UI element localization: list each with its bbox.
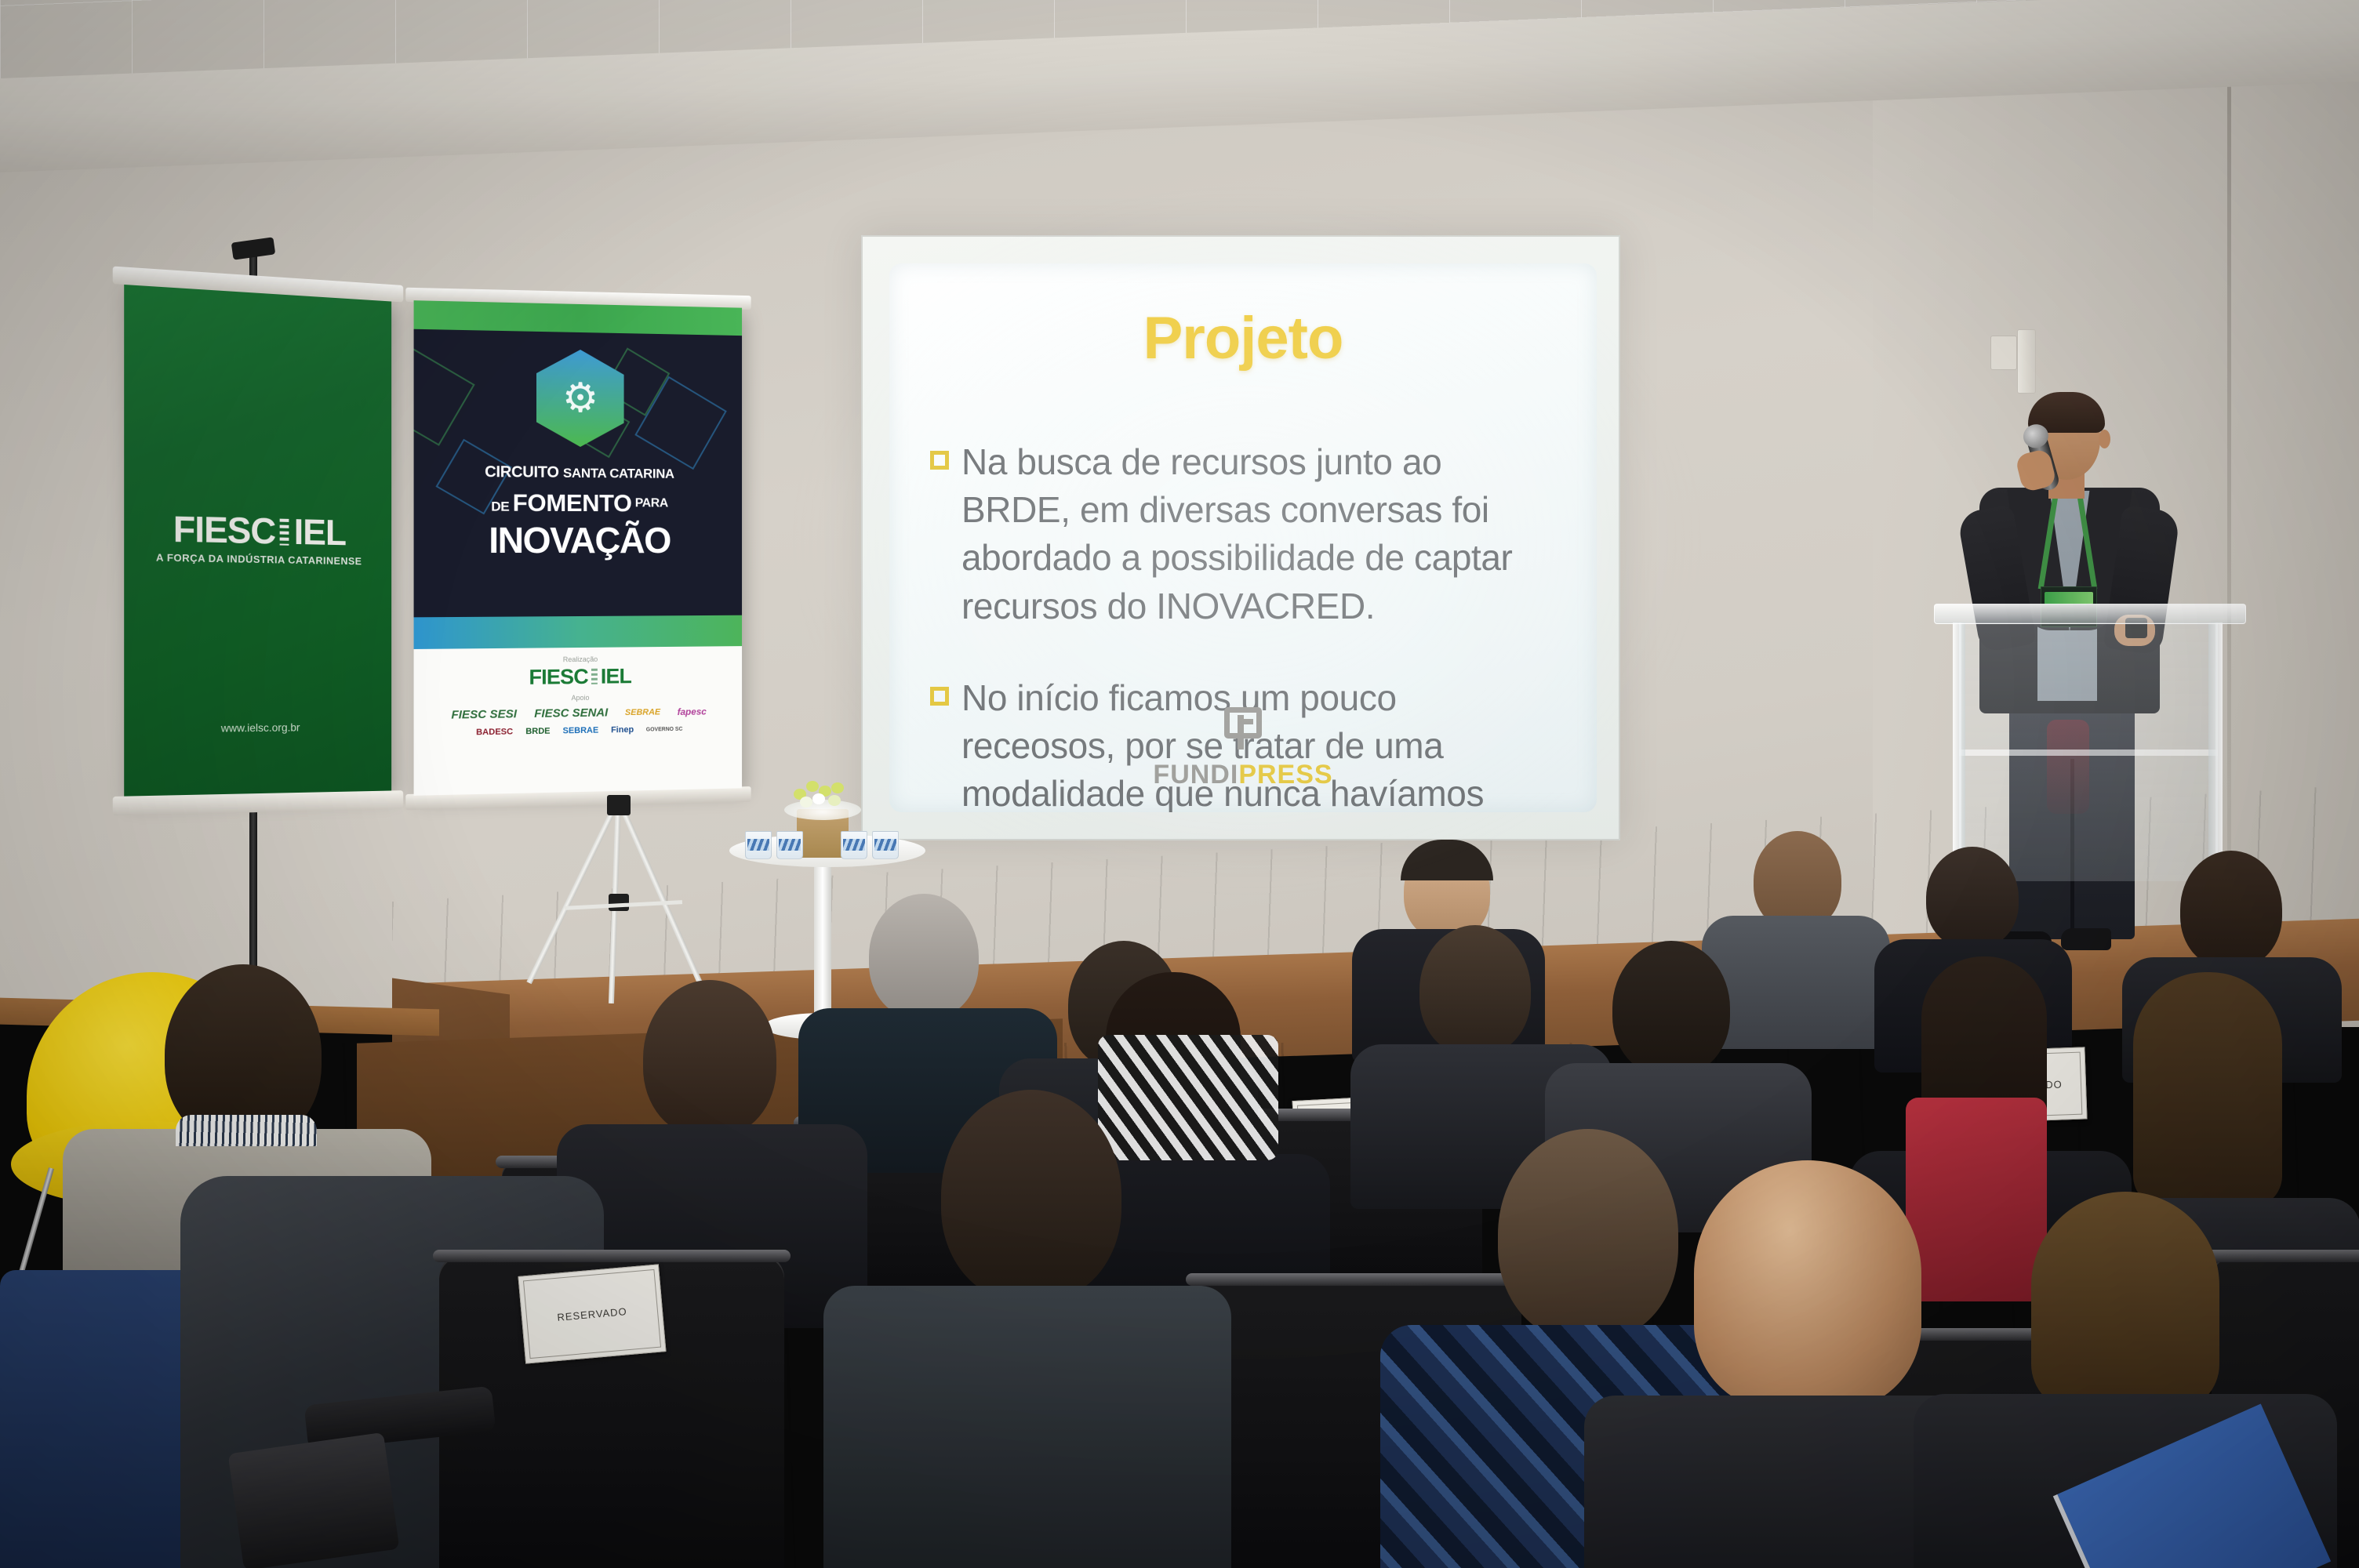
water-cup — [745, 831, 772, 859]
person-hair — [2031, 1192, 2219, 1411]
organizer-logo: FIESCIEL — [414, 663, 742, 691]
person-hair — [1612, 941, 1730, 1076]
presenter-lanyard — [2045, 495, 2091, 590]
person-hair-long — [2133, 972, 2282, 1207]
person-collar — [176, 1115, 317, 1146]
bullet-square-icon — [930, 451, 949, 470]
event-title-inovacao: INOVAÇÃO — [414, 518, 742, 561]
person-hair — [1401, 840, 1493, 880]
logo-word-press: PRESS — [1238, 760, 1332, 789]
fundipress-wordmark: FUNDIPRESS — [889, 760, 1597, 790]
logo-word-fundi: FUNDI — [1153, 760, 1238, 789]
event-title-de: DE — [491, 499, 509, 514]
apoio-label: Apoio — [414, 691, 742, 704]
event-banner-sponsor-panel: Realização FIESCIEL Apoio FIESC SESI FIE… — [414, 646, 742, 796]
person-body — [823, 1286, 1231, 1568]
logo-divider-icon — [280, 519, 289, 546]
lectern-shelf — [1959, 750, 2218, 756]
sponsor-finep: Finep — [611, 725, 634, 735]
event-banner-body: ⚙ CIRCUITO SANTA CATARINA DE FOMENTO PAR… — [414, 329, 742, 618]
sponsor-fiesc-senai: FIESC SENAI — [534, 706, 608, 720]
presenter-ear-right — [2099, 430, 2110, 448]
presentation-slide: Projeto Na busca de recursos junto ao BR… — [889, 263, 1597, 812]
sponsor-badesc: BADESC — [476, 727, 513, 737]
person-hair — [2180, 851, 2282, 968]
sponsor-fiesc-sesi: FIESC SESI — [451, 707, 517, 721]
person-hair — [1419, 925, 1531, 1055]
chair-arm-support — [228, 1432, 400, 1568]
sponsor-brde: BRDE — [525, 727, 550, 737]
sponsor-sebrae: SEBRAE — [563, 726, 599, 736]
slide-bullet-list: Na busca de recursos junto ao BRDE, em d… — [930, 438, 1553, 812]
lectern-top — [1934, 604, 2246, 624]
slide-title: Projeto — [889, 304, 1597, 372]
person-hair — [941, 1090, 1121, 1301]
slide-bullet-text: Na busca de recursos junto ao BRDE, em d… — [961, 438, 1553, 630]
event-title-fomento: FOMENTO — [513, 489, 632, 517]
banner-url: www.ielsc.org.br — [124, 720, 391, 735]
water-cup — [776, 831, 803, 859]
slide-bullet-item: No início ficamos um pouco receosos, por… — [930, 674, 1553, 812]
person-hair — [643, 980, 776, 1137]
water-cup — [841, 831, 867, 859]
sponsor-row-2: BADESC BRDE SEBRAE Finep GOVERNO SC — [414, 724, 742, 739]
slide-footer-logo: FUNDIPRESS — [889, 707, 1597, 790]
sponsor-sebrae-icon: SEBRAE — [625, 707, 660, 717]
conference-room-photo: FIESCIEL A FORÇA DA INDÚSTRIA CATARINENS… — [0, 0, 2359, 1568]
banner-logo-fiesc: FIESC — [173, 508, 275, 551]
event-banner-blue-bar — [414, 615, 742, 649]
fiesc-iel-banner: FIESCIEL A FORÇA DA INDÚSTRIA CATARINENS… — [124, 283, 391, 797]
event-title-para: PARA — [635, 496, 668, 510]
organizer-iel: IEL — [601, 664, 631, 688]
event-banner: ⚙ CIRCUITO SANTA CATARINA DE FOMENTO PAR… — [414, 300, 742, 796]
tripod-hub-icon — [607, 795, 631, 815]
event-title-line2: DE FOMENTO PARA — [414, 488, 742, 518]
event-title-line1: CIRCUITO SANTA CATARINA — [414, 463, 742, 483]
audience-person — [863, 1090, 1192, 1568]
event-title-santacatarina: SANTA CATARINA — [563, 466, 674, 481]
banner-logo-iel: IEL — [294, 511, 346, 553]
wall-speaker-icon — [2017, 329, 2036, 394]
water-cups-group — [740, 831, 921, 859]
person-bald-head — [1694, 1160, 1921, 1411]
person-hair-grey — [869, 894, 979, 1019]
bullet-square-icon — [930, 687, 949, 706]
sponsor-row-1: FIESC SESI FIESC SENAI SEBRAE fapesc — [414, 704, 742, 722]
sponsor-governo-sc: GOVERNO SC — [646, 726, 683, 732]
flower-arrangement — [794, 781, 850, 811]
person-hair — [1926, 847, 2019, 949]
reserved-sign: RESERVADO — [518, 1264, 666, 1363]
sponsor-fapesc: fapesc — [678, 706, 707, 717]
organizer-divider-icon — [591, 669, 598, 684]
water-cup — [872, 831, 899, 859]
projection-screen: Projeto Na busca de recursos junto ao BR… — [861, 235, 1620, 840]
fundipress-f-mark-icon — [1224, 707, 1262, 750]
event-title-circuito: CIRCUITO — [485, 463, 559, 481]
fiesc-iel-logo: FIESCIEL A FORÇA DA INDÚSTRIA CATARINENS… — [124, 506, 391, 568]
organizer-fiesc: FIESC — [529, 665, 588, 689]
logo-rule-line — [983, 753, 1503, 754]
slide-bullet-item: Na busca de recursos junto ao BRDE, em d… — [930, 438, 1553, 630]
slide-bullet-text: No início ficamos um pouco receosos, por… — [961, 674, 1553, 812]
wall-outlet-icon — [1990, 336, 2017, 370]
